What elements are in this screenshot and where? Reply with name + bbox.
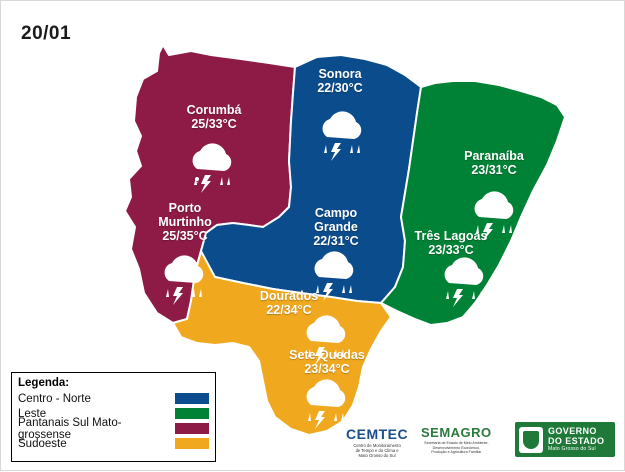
- legend-swatch-sudoeste: [175, 438, 209, 449]
- legend: Legenda: Centro - Norte Leste Pantanais …: [11, 372, 216, 462]
- legend-title: Legenda:: [18, 377, 209, 389]
- semagro-name: SEMAGRO: [421, 425, 492, 440]
- legend-label-centro-norte: Centro - Norte: [18, 393, 91, 405]
- screenshot-frame: 20/01 Corumbá 25/33°C Sonora 22/30°C Par…: [0, 0, 625, 471]
- cemtec-logo: CEMTEC Centro de Monitoramento de Tempo …: [346, 426, 408, 459]
- cemtec-subtitle: Centro de Monitoramento de Tempo e do Cl…: [346, 443, 408, 459]
- governo-line1: GOVERNO DO ESTADO: [548, 426, 604, 446]
- semagro-subtitle: Secretaria de Estado de Meio Ambiente, D…: [421, 441, 492, 455]
- legend-swatch-centro-norte: [175, 393, 209, 404]
- state-crest-icon: [519, 427, 543, 453]
- legend-label-sudoeste: Sudoeste: [18, 438, 67, 450]
- legend-item-pantanais[interactable]: Pantanais Sul Mato-grossense: [18, 421, 209, 436]
- legend-item-centro-norte[interactable]: Centro - Norte: [18, 391, 209, 406]
- governo-do-estado-logo: GOVERNO DO ESTADO Mato Grosso do Sul: [515, 422, 615, 457]
- cemtec-name: CEMTEC: [346, 426, 408, 442]
- governo-line2: Mato Grosso do Sul: [548, 446, 604, 453]
- semagro-logo: SEMAGRO Secretaria de Estado de Meio Amb…: [421, 425, 492, 455]
- legend-swatch-leste: [175, 408, 209, 419]
- legend-swatch-pantanais: [175, 423, 209, 434]
